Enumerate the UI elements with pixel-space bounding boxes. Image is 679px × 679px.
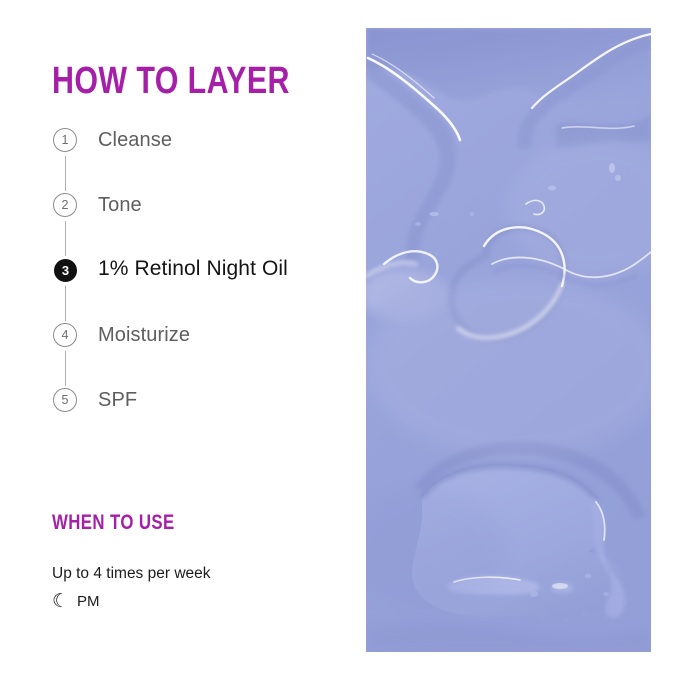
step-number-badge: 5 [53,388,77,412]
crescent-moon-icon: ☾ [52,592,69,611]
step-connector-line [65,156,66,191]
step-connector-line [65,221,66,256]
info-column: HOW TO LAYER 1 Cleanse 2 Tone 3 1% Retin… [52,0,352,679]
usage-time-label: PM [77,591,100,613]
gel-texture-illustration [366,28,651,652]
layering-step-list: 1 Cleanse 2 Tone 3 1% Retinol Night Oil … [52,126,352,416]
step-label: Moisturize [98,321,190,349]
step-label-active: 1% Retinol Night Oil [98,255,288,283]
step-number-badge: 4 [53,323,77,347]
step-label: Cleanse [98,126,172,154]
step-label: SPF [98,386,137,414]
step-connector-line [65,351,66,386]
step-connector-line [65,286,66,321]
product-texture-image [366,28,651,652]
step-number-badge-active: 3 [54,259,77,282]
usage-time-row: ☾ PM [52,591,100,613]
step-number-badge: 2 [53,193,77,217]
list-item[interactable]: 2 Tone [52,191,352,256]
how-to-layer-heading: HOW TO LAYER [52,62,290,100]
list-item-active[interactable]: 3 1% Retinol Night Oil [52,256,352,321]
usage-frequency-text: Up to 4 times per week [52,563,211,585]
step-label: Tone [98,191,142,219]
list-item[interactable]: 5 SPF [52,386,352,416]
when-to-use-heading: WHEN TO USE [52,512,175,533]
product-infographic: HOW TO LAYER 1 Cleanse 2 Tone 3 1% Retin… [0,0,679,679]
list-item[interactable]: 4 Moisturize [52,321,352,386]
step-number-badge: 1 [53,128,77,152]
list-item[interactable]: 1 Cleanse [52,126,352,191]
